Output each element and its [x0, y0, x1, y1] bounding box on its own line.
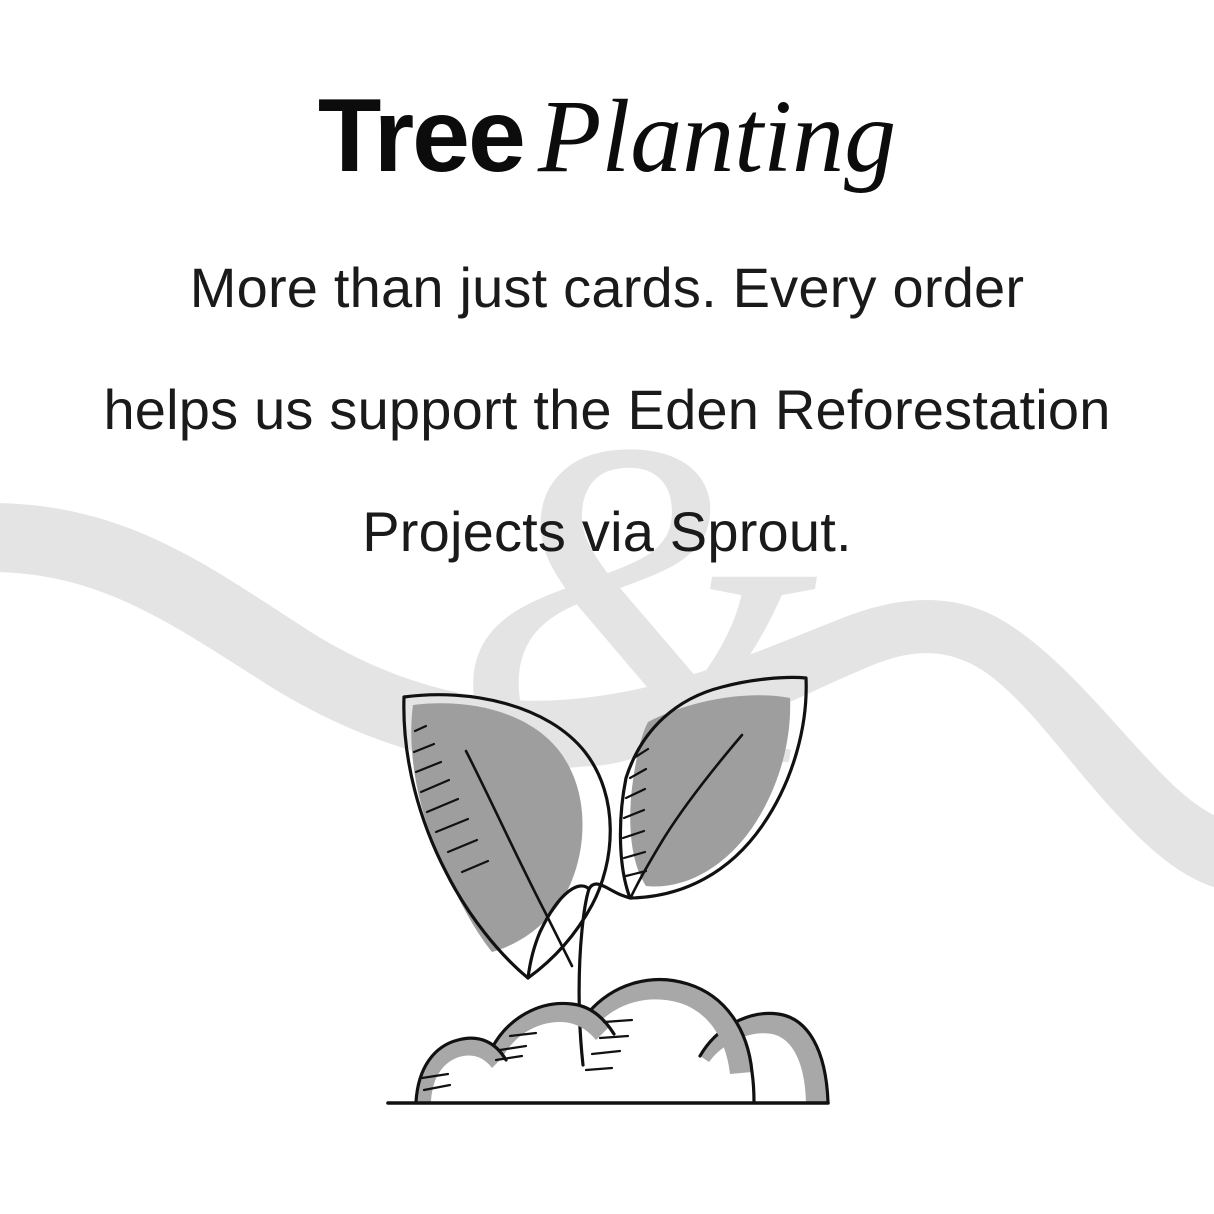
text-block: TreePlanting More than just cards. Every…: [0, 0, 1214, 593]
stem-main: [579, 889, 589, 1065]
left-leaf-vein: [466, 751, 572, 966]
soil-bump-3-shade: [588, 980, 752, 1074]
stem-right-branch: [589, 884, 631, 898]
right-leaf-vein: [631, 735, 742, 897]
soil-bump-2-outline: [492, 1003, 614, 1048]
right-leaf-fill: [630, 695, 790, 886]
page-title: TreePlanting: [0, 0, 1214, 189]
left-leaf-fill: [411, 703, 582, 952]
soil-bump-1-outline: [416, 1038, 506, 1102]
soil-bump-3-outline: [588, 980, 754, 1102]
title-bold-word: Tree: [318, 78, 524, 194]
poster-canvas: & TreePlanting More than just cards. Eve…: [0, 0, 1214, 1214]
subtitle-line-3: Projects via Sprout.: [0, 471, 1214, 593]
right-leaf-icon: [620, 677, 806, 898]
left-leaf-icon: [404, 695, 610, 978]
left-leaf-hatch-marks: [414, 726, 488, 872]
soil-hatch-marks: [422, 1020, 632, 1090]
subtitle-paragraph: More than just cards. Every order helps …: [0, 189, 1214, 593]
subtitle-line-1: More than just cards. Every order: [0, 227, 1214, 349]
right-leaf-outline: [620, 677, 806, 898]
subtitle-line-2: helps us support the Eden Reforestation: [0, 349, 1214, 471]
stem-icon: [528, 884, 631, 1065]
soil-bump-4-shade: [700, 1013, 828, 1102]
soil-bump-1-shade: [416, 1038, 504, 1102]
right-leaf-hatch-marks: [623, 749, 648, 876]
soil-mound-icon: [416, 980, 828, 1102]
stem-left-branch: [528, 886, 589, 978]
left-leaf-outline: [404, 695, 610, 978]
soil-bump-4-outline: [700, 1013, 828, 1102]
title-italic-word: Planting: [524, 79, 896, 194]
soil-bump-2-shade: [492, 1003, 610, 1060]
